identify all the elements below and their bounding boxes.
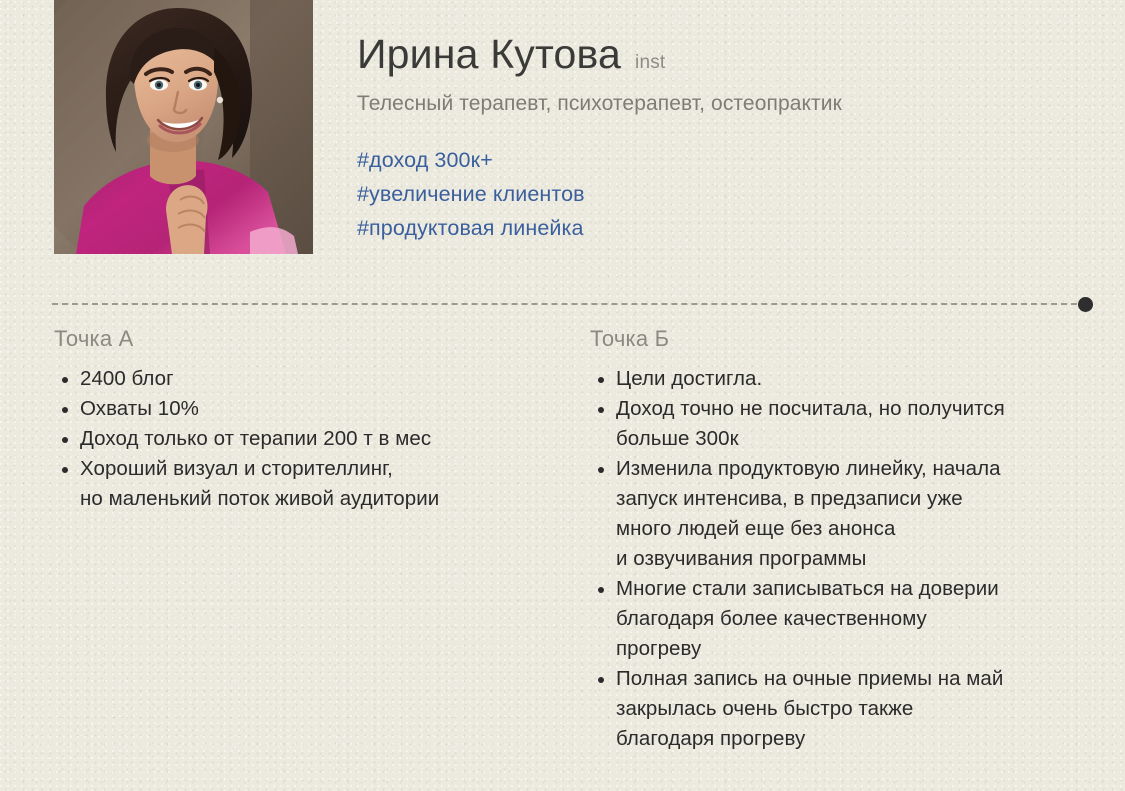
list-item-line: Охваты 10% — [80, 394, 574, 424]
portrait-illustration — [54, 0, 313, 254]
column-title: Точка А — [54, 326, 574, 352]
list-item-line: запуск интенсива, в предзаписи уже — [616, 484, 1090, 514]
list-item-line: Доход точно не посчитала, но получится — [616, 394, 1090, 424]
hashtag-item[interactable]: #увеличение клиентов — [357, 177, 1097, 211]
list-item-line: Многие стали записываться на доверии — [616, 574, 1090, 604]
list-item: Полная запись на очные приемы на май зак… — [590, 664, 1090, 754]
list-item-line: Изменила продуктовую линейку, начала — [616, 454, 1090, 484]
name-row: Ирина Кутова inst — [357, 32, 1097, 77]
point-a-list: 2400 блог Охваты 10% Доход только от тер… — [54, 364, 574, 514]
list-item: Многие стали записываться на доверии бла… — [590, 574, 1090, 664]
list-item-line: больше 300к — [616, 424, 1090, 454]
list-item: Доход точно не посчитала, но получится б… — [590, 394, 1090, 454]
list-item: Цели достигла. — [590, 364, 1090, 394]
list-item: Изменила продуктовую линейку, начала зап… — [590, 454, 1090, 574]
column-point-b: Точка Б Цели достигла. Доход точно не по… — [590, 326, 1090, 754]
list-item-line: Полная запись на очные приемы на май — [616, 664, 1090, 694]
section-divider — [52, 297, 1077, 313]
list-item-line: 2400 блог — [80, 364, 574, 394]
slide-root: Ирина Кутова inst Телесный терапевт, пси… — [0, 0, 1125, 791]
hashtag-list: #доход 300к+ #увеличение клиентов #проду… — [357, 143, 1097, 245]
list-item-line: прогреву — [616, 634, 1090, 664]
list-item-line: Доход только от терапии 200 т в мес — [80, 424, 574, 454]
list-item-line: Хороший визуал и сторителлинг, — [80, 454, 574, 484]
hashtag-item[interactable]: #доход 300к+ — [357, 143, 1097, 177]
profile-header: Ирина Кутова inst Телесный терапевт, пси… — [357, 32, 1097, 245]
list-item-line: и озвучивания программы — [616, 544, 1090, 574]
list-item-line: благодаря более качественному — [616, 604, 1090, 634]
column-title: Точка Б — [590, 326, 1090, 352]
instagram-link[interactable]: inst — [635, 52, 665, 74]
list-item: Хороший визуал и сторителлинг, но малень… — [54, 454, 574, 514]
dashed-line — [52, 303, 1077, 305]
list-item: 2400 блог — [54, 364, 574, 394]
person-name: Ирина Кутова — [357, 32, 621, 77]
column-point-a: Точка А 2400 блог Охваты 10% Доход тольк… — [54, 326, 574, 514]
point-b-list: Цели достигла. Доход точно не посчитала,… — [590, 364, 1090, 754]
list-item: Доход только от терапии 200 т в мес — [54, 424, 574, 454]
profile-photo — [54, 0, 313, 254]
list-item-line: Цели достигла. — [616, 364, 1090, 394]
list-item-line: благодаря прогреву — [616, 724, 1090, 754]
list-item: Охваты 10% — [54, 394, 574, 424]
list-item-line: много людей еще без анонса — [616, 514, 1090, 544]
person-role: Телесный терапевт, психотерапевт, остеоп… — [357, 90, 1097, 117]
list-item-line: закрылась очень быстро также — [616, 694, 1090, 724]
list-item-line: но маленький поток живой аудитории — [80, 484, 574, 514]
hashtag-item[interactable]: #продуктовая линейка — [357, 211, 1097, 245]
divider-dot — [1078, 297, 1093, 312]
